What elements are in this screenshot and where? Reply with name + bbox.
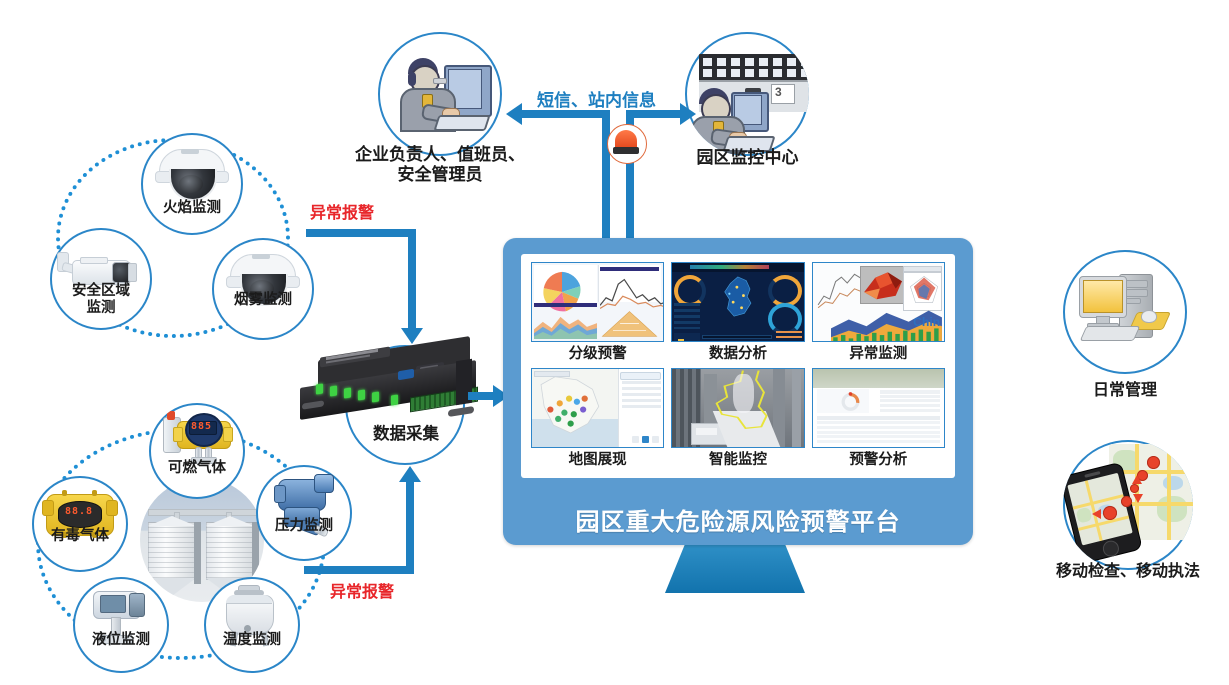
notify-line-left bbox=[602, 110, 610, 242]
pressure-transmitter-icon bbox=[256, 465, 352, 561]
panel-daily-management-label: 日常管理 bbox=[1063, 382, 1187, 401]
arrow-up-icon bbox=[399, 466, 421, 482]
sensor-pressure-label: 压力监测 bbox=[259, 518, 349, 535]
dome-camera-icon bbox=[141, 133, 243, 235]
platform-tile-smart-monitor[interactable]: 智能监控 bbox=[671, 368, 804, 472]
desktop-computer-icon bbox=[1063, 250, 1187, 374]
platform-title: 园区重大危险源风险预警平台 bbox=[503, 502, 973, 537]
platform-tile-label: 预警分析 bbox=[812, 448, 945, 472]
sensor-combustible-gas-label: 可燃气体 bbox=[152, 460, 242, 477]
diagram-canvas: 企业负责人、值班员、 安全管理员 3 园区监控中心 bbox=[0, 0, 1229, 685]
toxic-gas-detector-icon: 88.8 bbox=[32, 476, 128, 572]
operator-headset-icon bbox=[378, 32, 502, 156]
platform-tile-map-display[interactable]: 地图展现 bbox=[531, 368, 664, 472]
sensor-flame-label: 火焰监测 bbox=[147, 200, 237, 217]
platform-screen: 分级预警 bbox=[521, 254, 955, 478]
temperature-vessel-icon bbox=[204, 577, 300, 673]
alarm-bottom-vertical bbox=[406, 480, 414, 572]
sensor-temperature-label: 温度监测 bbox=[207, 632, 297, 649]
platform-tile-label: 智能监控 bbox=[671, 448, 804, 472]
alarm-top-vertical bbox=[408, 229, 416, 331]
alarm-top-horizontal bbox=[306, 229, 416, 237]
platform-tile-label: 地图展现 bbox=[531, 448, 664, 472]
platform-tile-label: 分级预警 bbox=[531, 342, 664, 366]
platform-tile-data-analysis[interactable]: 数据分析 bbox=[671, 262, 804, 366]
platform-tile-anomaly-monitor[interactable]: Chin 异常监测 bbox=[812, 262, 945, 366]
notify-line-to-center bbox=[630, 110, 682, 118]
data-collector-label: 数据采集 bbox=[360, 425, 452, 444]
platform-tile-grid: 分级预警 bbox=[531, 262, 945, 472]
platform-tile-grade-warning[interactable]: 分级预警 bbox=[531, 262, 664, 366]
arrow-left-icon bbox=[506, 103, 522, 125]
cctv-industrial-thumb bbox=[671, 368, 804, 448]
mobile-map-icon bbox=[1063, 440, 1193, 570]
radar-surface-chart-thumb: Chin bbox=[812, 262, 945, 342]
svg-text:Chin: Chin bbox=[913, 315, 940, 329]
control-room-operator-icon: 3 bbox=[685, 32, 809, 156]
actor-enterprise-label: 企业负责人、值班员、 安全管理员 bbox=[330, 145, 550, 185]
report-dashboard-thumb bbox=[812, 368, 945, 448]
platform-tile-label: 数据分析 bbox=[671, 342, 804, 366]
arrow-right-icon bbox=[680, 103, 696, 125]
sensor-smoke-label: 烟雾监测 bbox=[218, 292, 308, 309]
platform-tile-warning-analysis[interactable]: 预警分析 bbox=[812, 368, 945, 472]
gas-detector-icon: 885 bbox=[149, 403, 245, 499]
alarm-bottom-label: 异常报警 bbox=[330, 578, 394, 602]
platform-tile-label: 异常监测 bbox=[812, 342, 945, 366]
notify-label: 短信、站内信息 bbox=[537, 86, 656, 111]
gis-map-thumb bbox=[531, 368, 664, 448]
sensor-area-label: 安全区域 监测 bbox=[56, 283, 146, 317]
dark-bigdata-map-thumb bbox=[671, 262, 804, 342]
collector-platform-line bbox=[468, 392, 496, 400]
level-meter-icon bbox=[73, 577, 169, 673]
notify-line-to-enterprise bbox=[522, 110, 608, 118]
charts-dashboard-thumb bbox=[531, 262, 664, 342]
alarm-top-label: 异常报警 bbox=[310, 199, 374, 223]
sensor-toxic-gas-label: 有毒气体 bbox=[35, 528, 125, 545]
panel-mobile-inspection-label: 移动检查、移动执法 bbox=[1028, 563, 1228, 582]
actor-control-center-label: 园区监控中心 bbox=[655, 148, 840, 168]
alarm-bottom-horizontal bbox=[304, 566, 414, 574]
dome-camera-icon bbox=[212, 238, 314, 340]
sensor-level-label: 液位监测 bbox=[76, 632, 166, 649]
risk-warning-platform: 分级预警 bbox=[503, 238, 973, 545]
monitor-stand bbox=[665, 545, 805, 593]
